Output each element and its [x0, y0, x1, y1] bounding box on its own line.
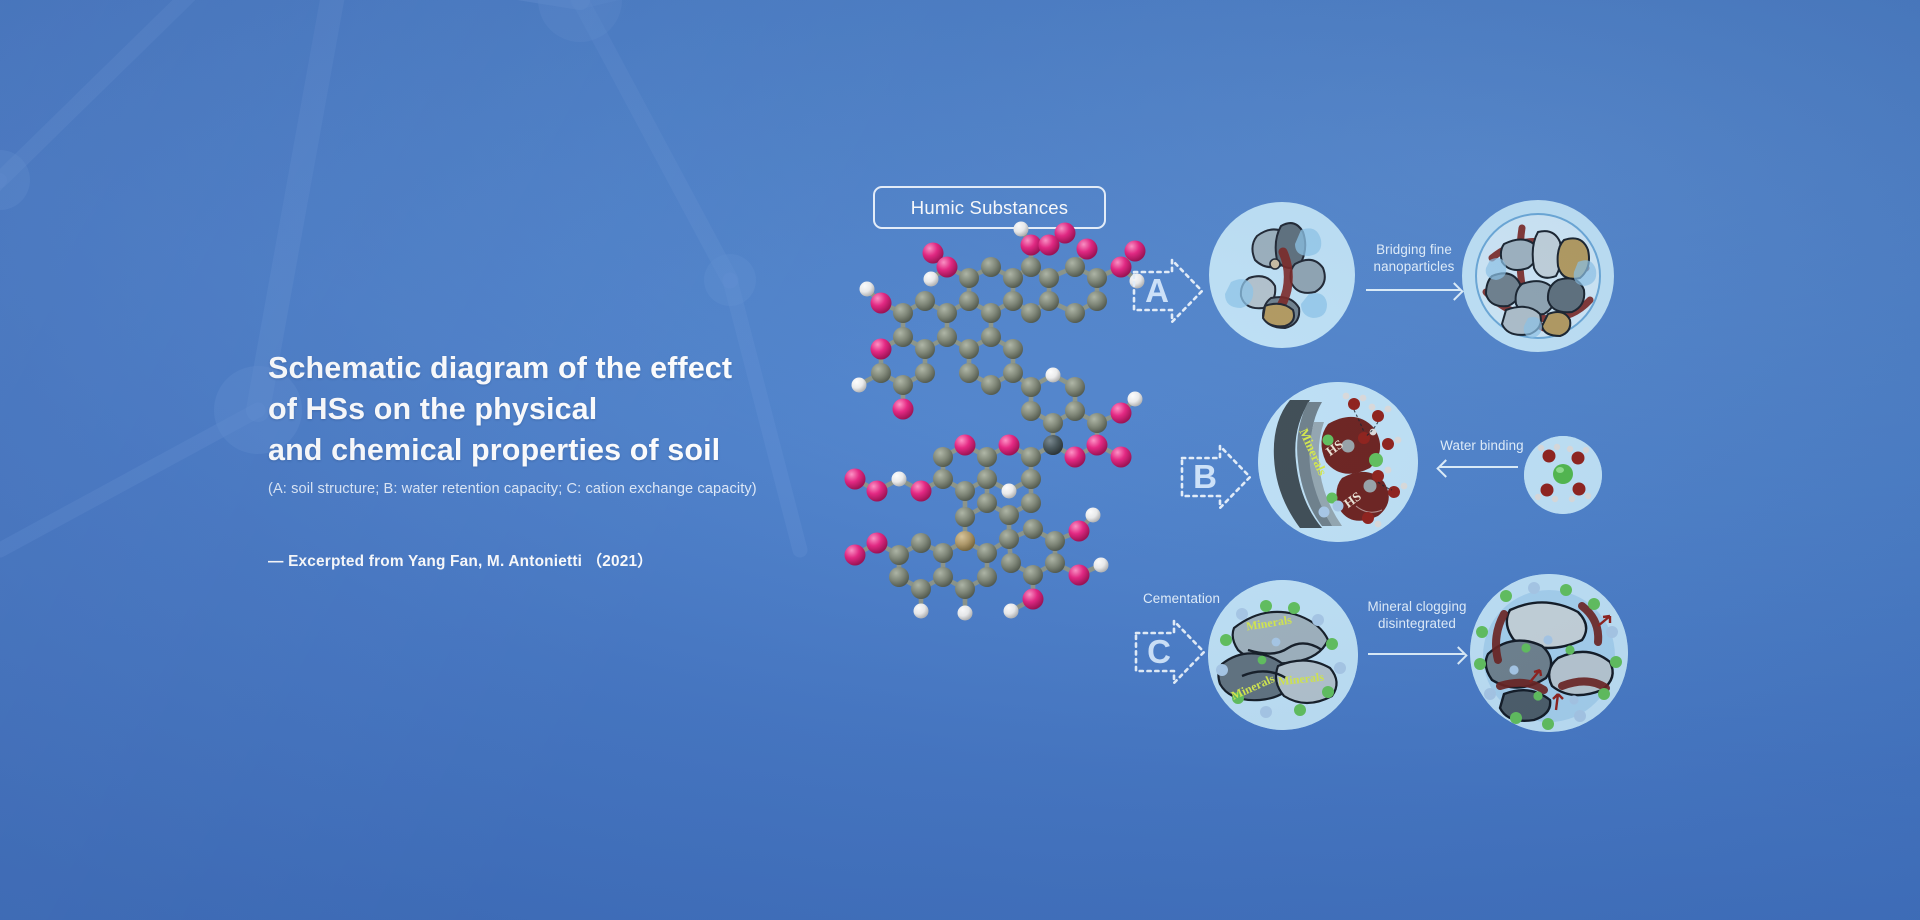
stage-c-left-caption: Cementation — [1143, 590, 1220, 607]
stage-arrow-b: B — [1176, 440, 1256, 514]
stage-b-after-circle — [1524, 436, 1602, 514]
stage-c-before-circle: Minerals Minerals Minerals — [1208, 580, 1358, 730]
stage-letter-c: C — [1130, 615, 1188, 689]
stage-arrow-a: A — [1128, 254, 1208, 328]
humic-substance-molecule-model — [835, 215, 1165, 635]
headline-block: Schematic diagram of the effect of HSs o… — [268, 348, 908, 571]
stage-a-after-circle — [1462, 200, 1614, 352]
stage-c-after-circle — [1470, 574, 1628, 732]
stage-letter-a: A — [1128, 254, 1186, 328]
page-title: Schematic diagram of the effect of HSs o… — [268, 348, 908, 471]
source-credit: — Excerpted from Yang Fan, M. Antonietti… — [268, 549, 908, 571]
stage-a-before-circle — [1209, 202, 1355, 348]
stage-a-connector-arrow — [1366, 289, 1460, 291]
poster-canvas: Schematic diagram of the effect of HSs o… — [0, 0, 1920, 920]
stage-c-connector-arrow — [1368, 653, 1464, 655]
stage-arrow-c: C — [1130, 615, 1210, 689]
stage-a-transition-caption: Bridging fine nanoparticles — [1352, 241, 1476, 275]
page-subtitle: (A: soil structure; B: water retention c… — [268, 481, 908, 497]
stage-b-before-circle: HS HS Minerals — [1258, 382, 1418, 542]
stage-letter-b: B — [1176, 440, 1234, 514]
stage-b-transition-caption: Water binding — [1434, 437, 1530, 454]
stage-c-transition-caption: Mineral clogging disintegrated — [1352, 598, 1482, 632]
stage-b-connector-arrow — [1440, 466, 1518, 468]
